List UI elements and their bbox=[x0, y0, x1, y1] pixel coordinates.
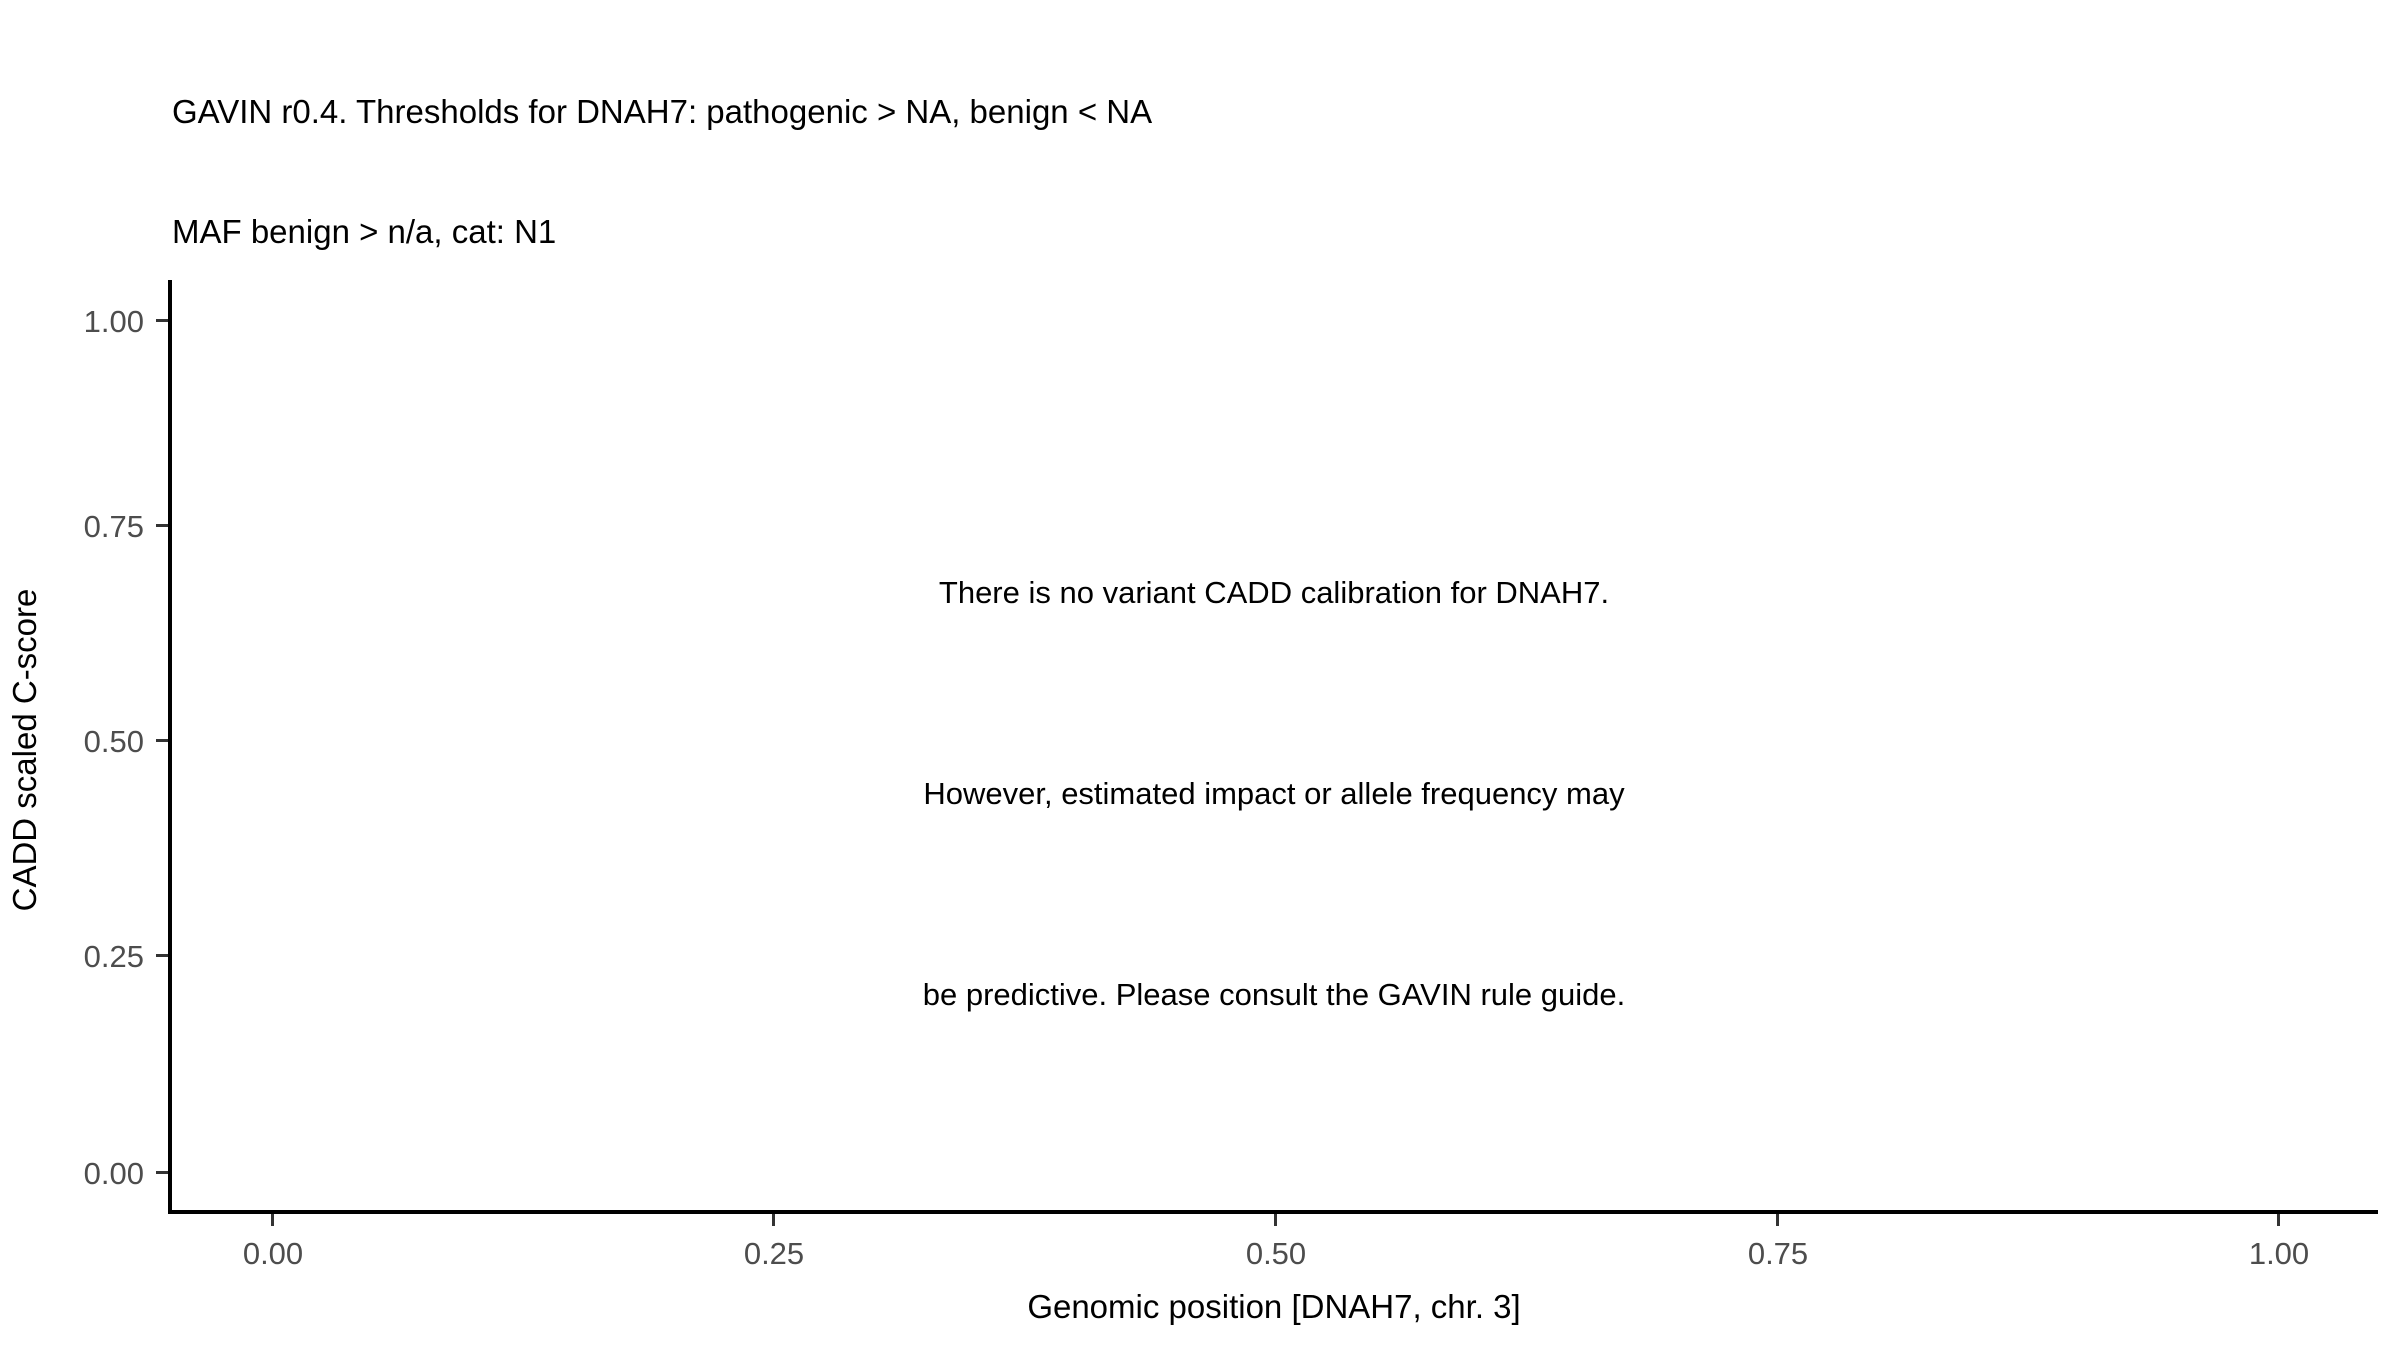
x-axis-tick-label: 0.75 bbox=[1678, 1236, 1878, 1272]
y-axis-line bbox=[168, 280, 172, 1214]
plot-title-line-1: GAVIN r0.4. Thresholds for DNAH7: pathog… bbox=[172, 92, 2322, 132]
panel-annotation-line-3: be predictive. Please consult the GAVIN … bbox=[170, 961, 2378, 1028]
y-axis-tick-mark bbox=[156, 319, 168, 322]
panel-annotation-line-1: There is no variant CADD calibration for… bbox=[170, 559, 2378, 626]
y-axis-tick-mark bbox=[156, 1171, 168, 1174]
plot-panel: There is no variant CADD calibration for… bbox=[170, 280, 2378, 1212]
x-axis-tick-label: 0.25 bbox=[674, 1236, 874, 1272]
x-axis-tick-label: 0.50 bbox=[1176, 1236, 1376, 1272]
x-axis-tick-mark bbox=[1274, 1214, 1277, 1226]
panel-annotation: There is no variant CADD calibration for… bbox=[170, 425, 2378, 1162]
panel-annotation-line-2: However, estimated impact or allele freq… bbox=[170, 760, 2378, 827]
x-axis-tick-mark bbox=[772, 1214, 775, 1226]
x-axis-tick-mark bbox=[1776, 1214, 1779, 1226]
y-axis-tick-mark bbox=[156, 739, 168, 742]
y-axis-tick-mark bbox=[156, 954, 168, 957]
x-axis-tick-label: 0.00 bbox=[173, 1236, 373, 1272]
y-axis-tick-mark bbox=[156, 524, 168, 527]
x-axis-tick-mark bbox=[2277, 1214, 2280, 1226]
y-axis-title: CADD scaled C-score bbox=[6, 284, 44, 1216]
chart-canvas: GAVIN r0.4. Thresholds for DNAH7: pathog… bbox=[0, 0, 2400, 1350]
x-axis-title: Genomic position [DNAH7, chr. 3] bbox=[170, 1288, 2378, 1326]
x-axis-tick-label: 1.00 bbox=[2179, 1236, 2379, 1272]
x-axis-tick-mark bbox=[271, 1214, 274, 1226]
plot-title-line-2: MAF benign > n/a, cat: N1 bbox=[172, 212, 2322, 252]
x-axis-line bbox=[168, 1210, 2378, 1214]
